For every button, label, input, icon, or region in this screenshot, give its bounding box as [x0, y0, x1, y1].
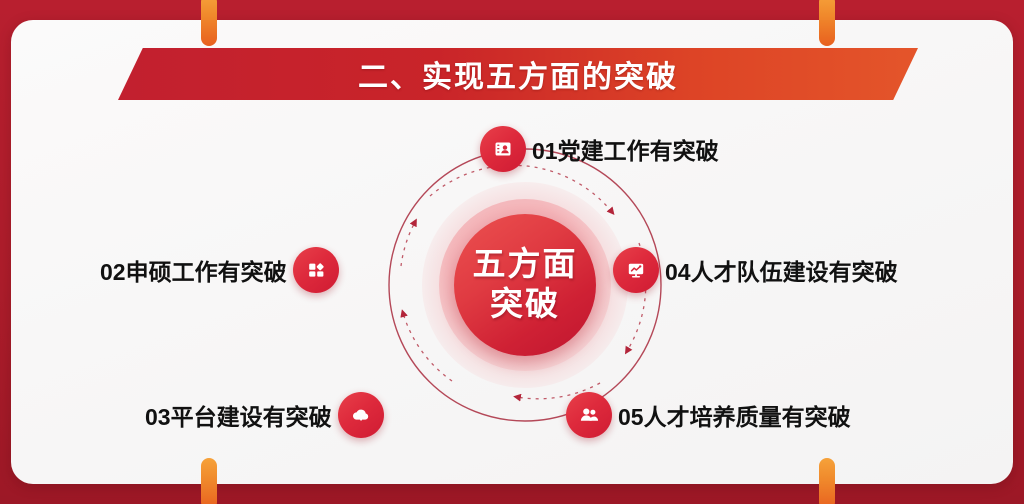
node-02[interactable]: 02申硕工作有突破: [100, 247, 339, 293]
node-01-label: 01党建工作有突破: [532, 132, 719, 166]
node-03-label: 03平台建设有突破: [145, 398, 332, 432]
center-circle: 五方面 突破: [454, 214, 596, 356]
accent-bar-top-left: [201, 0, 217, 46]
page-title: 二、实现五方面的突破: [358, 52, 678, 96]
node-04[interactable]: 04人才队伍建设有突破: [613, 247, 898, 293]
node-05-label: 05人才培养质量有突破: [618, 398, 851, 432]
node-05[interactable]: 05人才培养质量有突破: [566, 392, 851, 438]
node-02-label: 02申硕工作有突破: [100, 253, 287, 287]
grid-blocks-icon[interactable]: [293, 247, 339, 293]
users-icon[interactable]: [566, 392, 612, 438]
slide-root: 二、实现五方面的突破 五方面 突破: [0, 0, 1024, 504]
contact-card-icon[interactable]: [480, 126, 526, 172]
center-line-1: 五方面: [473, 245, 578, 285]
center-line-2: 突破: [490, 285, 560, 325]
node-04-label: 04人才队伍建设有突破: [665, 253, 898, 287]
accent-bar-bottom-left: [201, 458, 217, 504]
dashed-arc-5: [401, 222, 415, 266]
cloud-upload-icon[interactable]: [338, 392, 384, 438]
title-banner: 二、实现五方面的突破: [118, 48, 918, 100]
accent-bar-bottom-right: [819, 458, 835, 504]
monitor-chart-icon[interactable]: [613, 247, 659, 293]
node-03[interactable]: 03平台建设有突破: [145, 392, 384, 438]
node-01[interactable]: 01党建工作有突破: [480, 126, 719, 172]
accent-bar-top-right: [819, 0, 835, 46]
